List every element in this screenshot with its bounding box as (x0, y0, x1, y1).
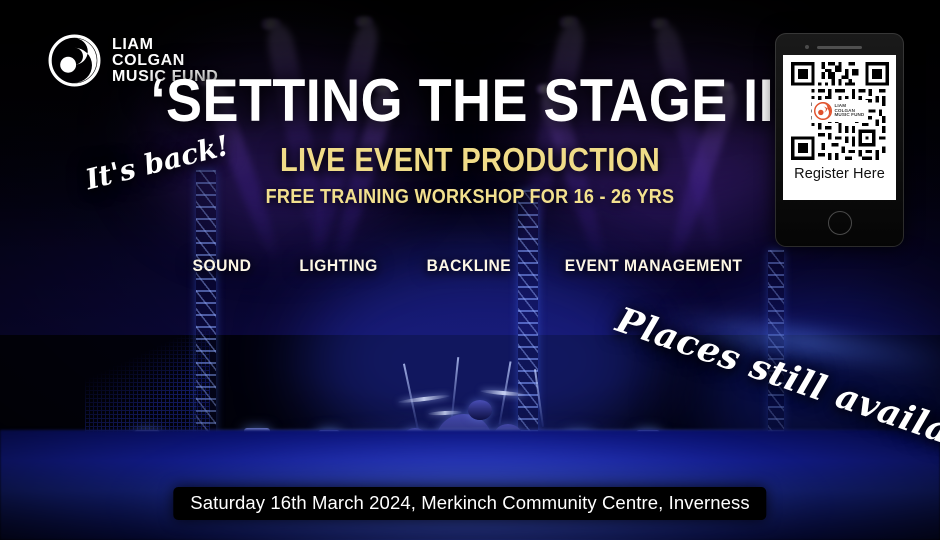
category-lighting: LIGHTING (299, 256, 377, 276)
phone-speaker-icon (817, 46, 862, 49)
eligibility-line: FREE TRAINING WORKSHOP FOR 16 - 26 YRS (47, 187, 893, 207)
category-sound: SOUND (193, 256, 252, 276)
phone-mockup: LIAM COLGAN MUSIC FUND Register Here (775, 33, 904, 247)
event-details-bar: Saturday 16th March 2024, Merkinch Commu… (173, 487, 766, 520)
brand-name-line-1: LIAM (112, 37, 218, 53)
register-here-label[interactable]: Register Here (783, 166, 896, 182)
truss-tower (196, 170, 216, 435)
qr-center-logo: LIAM COLGAN MUSIC FUND (812, 100, 868, 122)
page-title: ‘SETTING THE STAGE II’ (47, 72, 893, 131)
category-event-management: EVENT MANAGEMENT (565, 256, 743, 276)
qr-code-icon[interactable]: LIAM COLGAN MUSIC FUND (791, 62, 889, 160)
qr-logo-line-3: MUSIC FUND (835, 113, 865, 118)
category-list: SOUND LIGHTING BACKLINE EVENT MANAGEMENT (0, 256, 940, 276)
liam-colgan-spiral-logo-icon (814, 102, 832, 120)
phone-home-button-icon (828, 211, 852, 235)
event-details-text: Saturday 16th March 2024, Merkinch Commu… (190, 492, 749, 513)
category-backline: BACKLINE (427, 256, 511, 276)
event-poster: LIAM COLGAN MUSIC FUND ‘SETTING THE STAG… (0, 0, 940, 540)
led-mesh-panel (85, 330, 210, 445)
qr-center-logo-text: LIAM COLGAN MUSIC FUND (835, 104, 865, 119)
phone-camera-icon (805, 45, 809, 49)
phone-screen: LIAM COLGAN MUSIC FUND Register Here (783, 55, 896, 200)
